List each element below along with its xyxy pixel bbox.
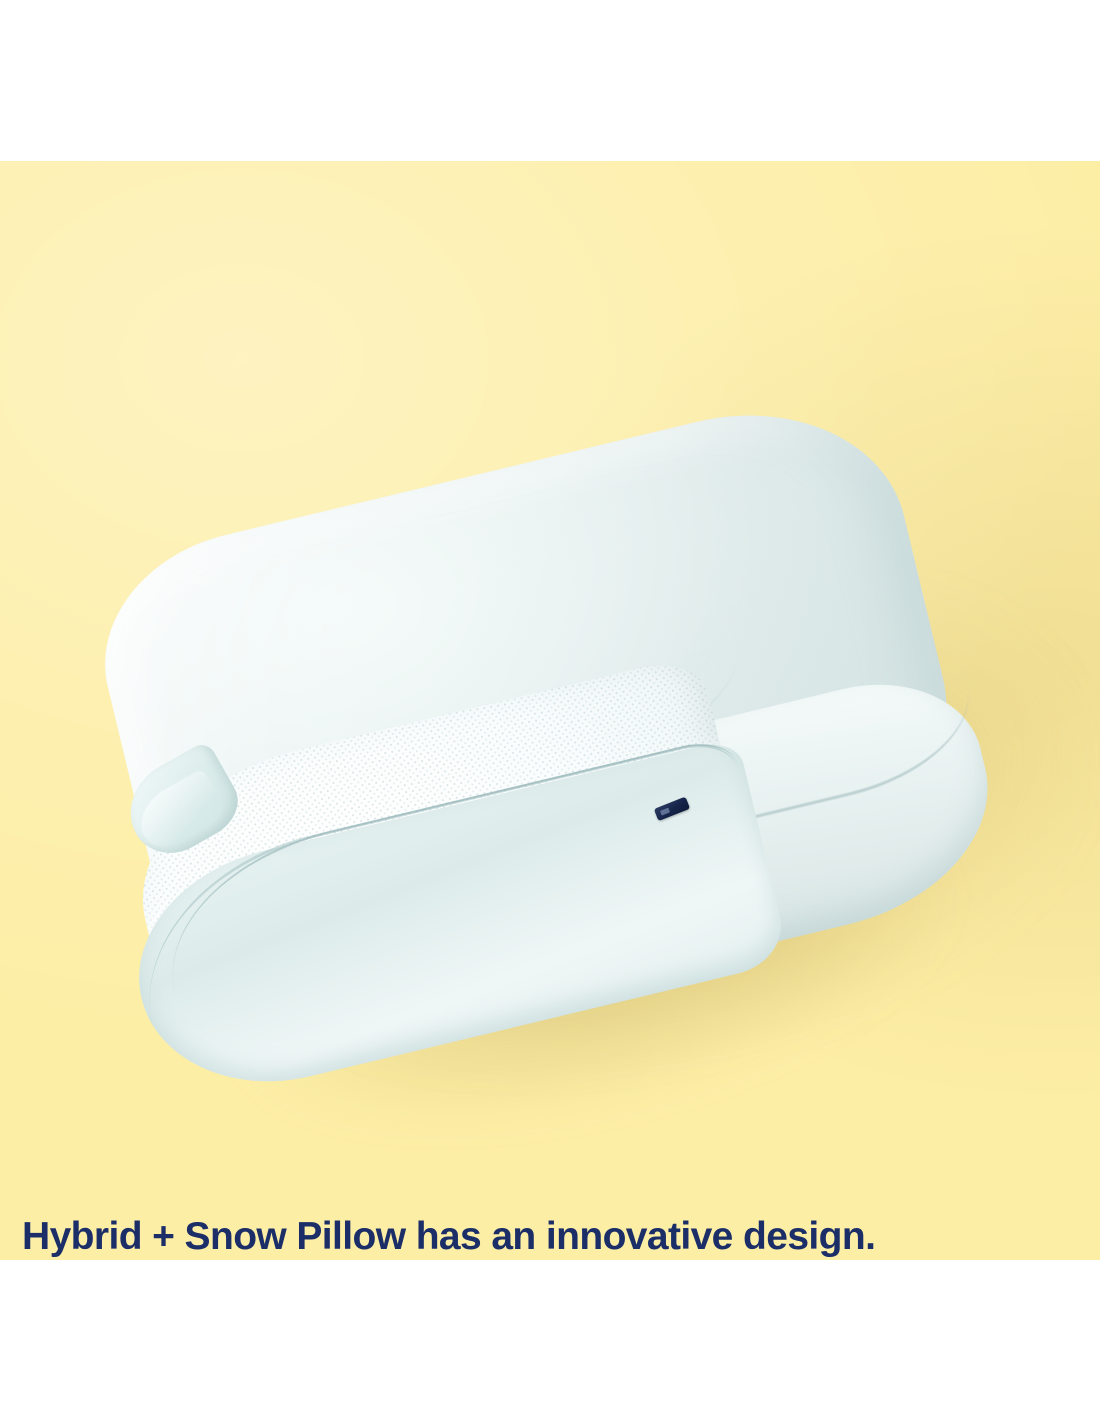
caption-block: Hybrid + Snow Pillow has an innovative d…	[22, 1216, 1080, 1260]
product-feature-page: Hybrid + Snow Pillow has an innovative d…	[0, 0, 1100, 1422]
pillow-illustration	[34, 365, 1059, 1197]
yellow-feature-panel: Hybrid + Snow Pillow has an innovative d…	[0, 161, 1100, 1260]
caption-headline: Hybrid + Snow Pillow has an innovative d…	[22, 1216, 1080, 1258]
product-photo	[0, 161, 1100, 1061]
